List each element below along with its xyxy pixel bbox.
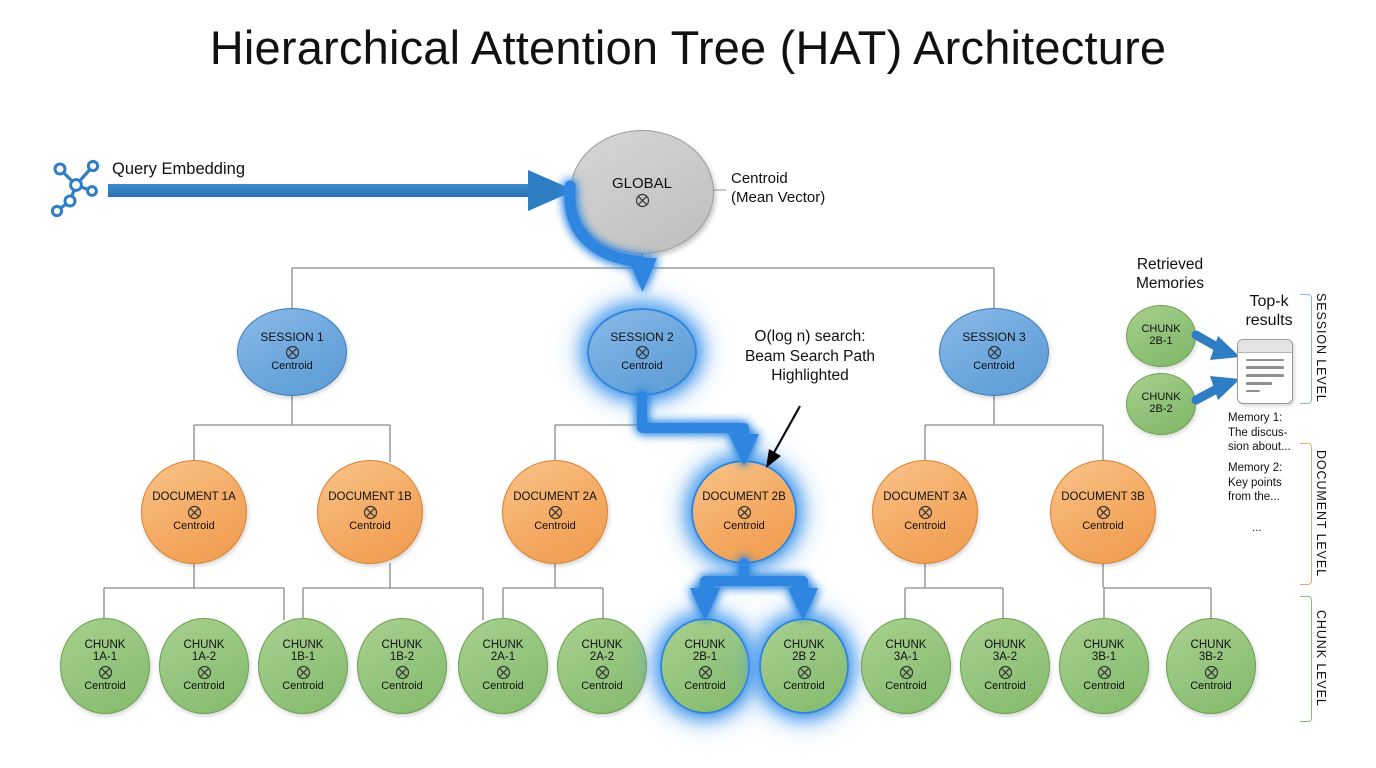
diagram-canvas: Hierarchical Attention Tree (HAT) Archit… [0,0,1376,768]
annotation-layer [0,0,1376,768]
beam-note-arrow [766,406,800,468]
